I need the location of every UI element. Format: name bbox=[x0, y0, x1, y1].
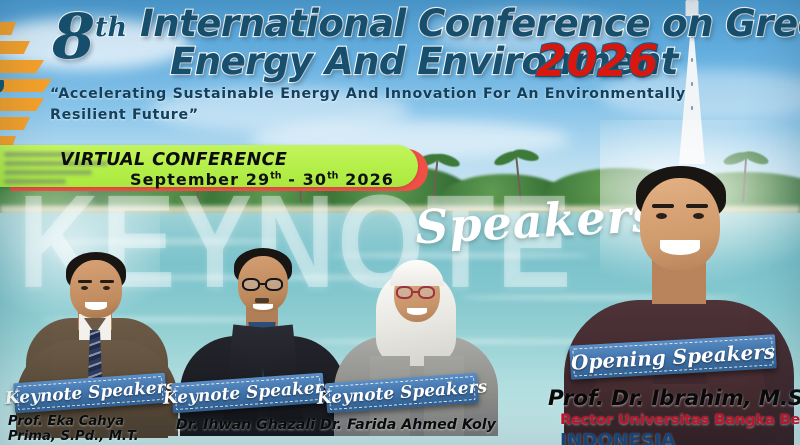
date-month: September bbox=[130, 170, 239, 189]
opening-speaker-role: Rector Universitas Bangka Belitung bbox=[560, 412, 800, 428]
date-end-ordinal: th bbox=[327, 171, 338, 182]
date-end: 30 bbox=[303, 170, 327, 189]
conference-date: September 29th - 30th 2026 bbox=[130, 170, 394, 189]
opening-speaker-country: INDONESIA bbox=[560, 430, 676, 445]
virtual-conference-label: VIRTUAL CONFERENCE bbox=[60, 150, 287, 170]
date-separator: - bbox=[288, 170, 296, 189]
conference-poster: KEYNOTE Speakers 8 th International Conf… bbox=[0, 0, 800, 445]
keynote-speaker-2-name: Dr. Ihwan Ghazali bbox=[176, 418, 336, 434]
keynote-speaker-1-name: Prof. Eka Cahya Prima, S.Pd., M.T. bbox=[8, 415, 170, 445]
keynote-speaker-3-name: Dr. Farida Ahmed Koly bbox=[320, 418, 496, 434]
date-start-ordinal: th bbox=[270, 171, 281, 182]
edition-ordinal: th bbox=[95, 12, 127, 43]
opening-speaker-name: Prof. Dr. Ibrahim, M.Si. bbox=[548, 386, 800, 411]
date-start: 29 bbox=[246, 170, 270, 189]
date-year: 2026 bbox=[345, 170, 394, 189]
conference-tagline: “Accelerating Sustainable Energy And Inn… bbox=[50, 84, 750, 126]
edition-number: 8 bbox=[52, 6, 95, 68]
title-block: 8 th International Conference on Green E… bbox=[0, 0, 800, 130]
conference-year: 2026 bbox=[536, 36, 658, 87]
page-title-line1: International Conference on Green bbox=[140, 2, 800, 45]
